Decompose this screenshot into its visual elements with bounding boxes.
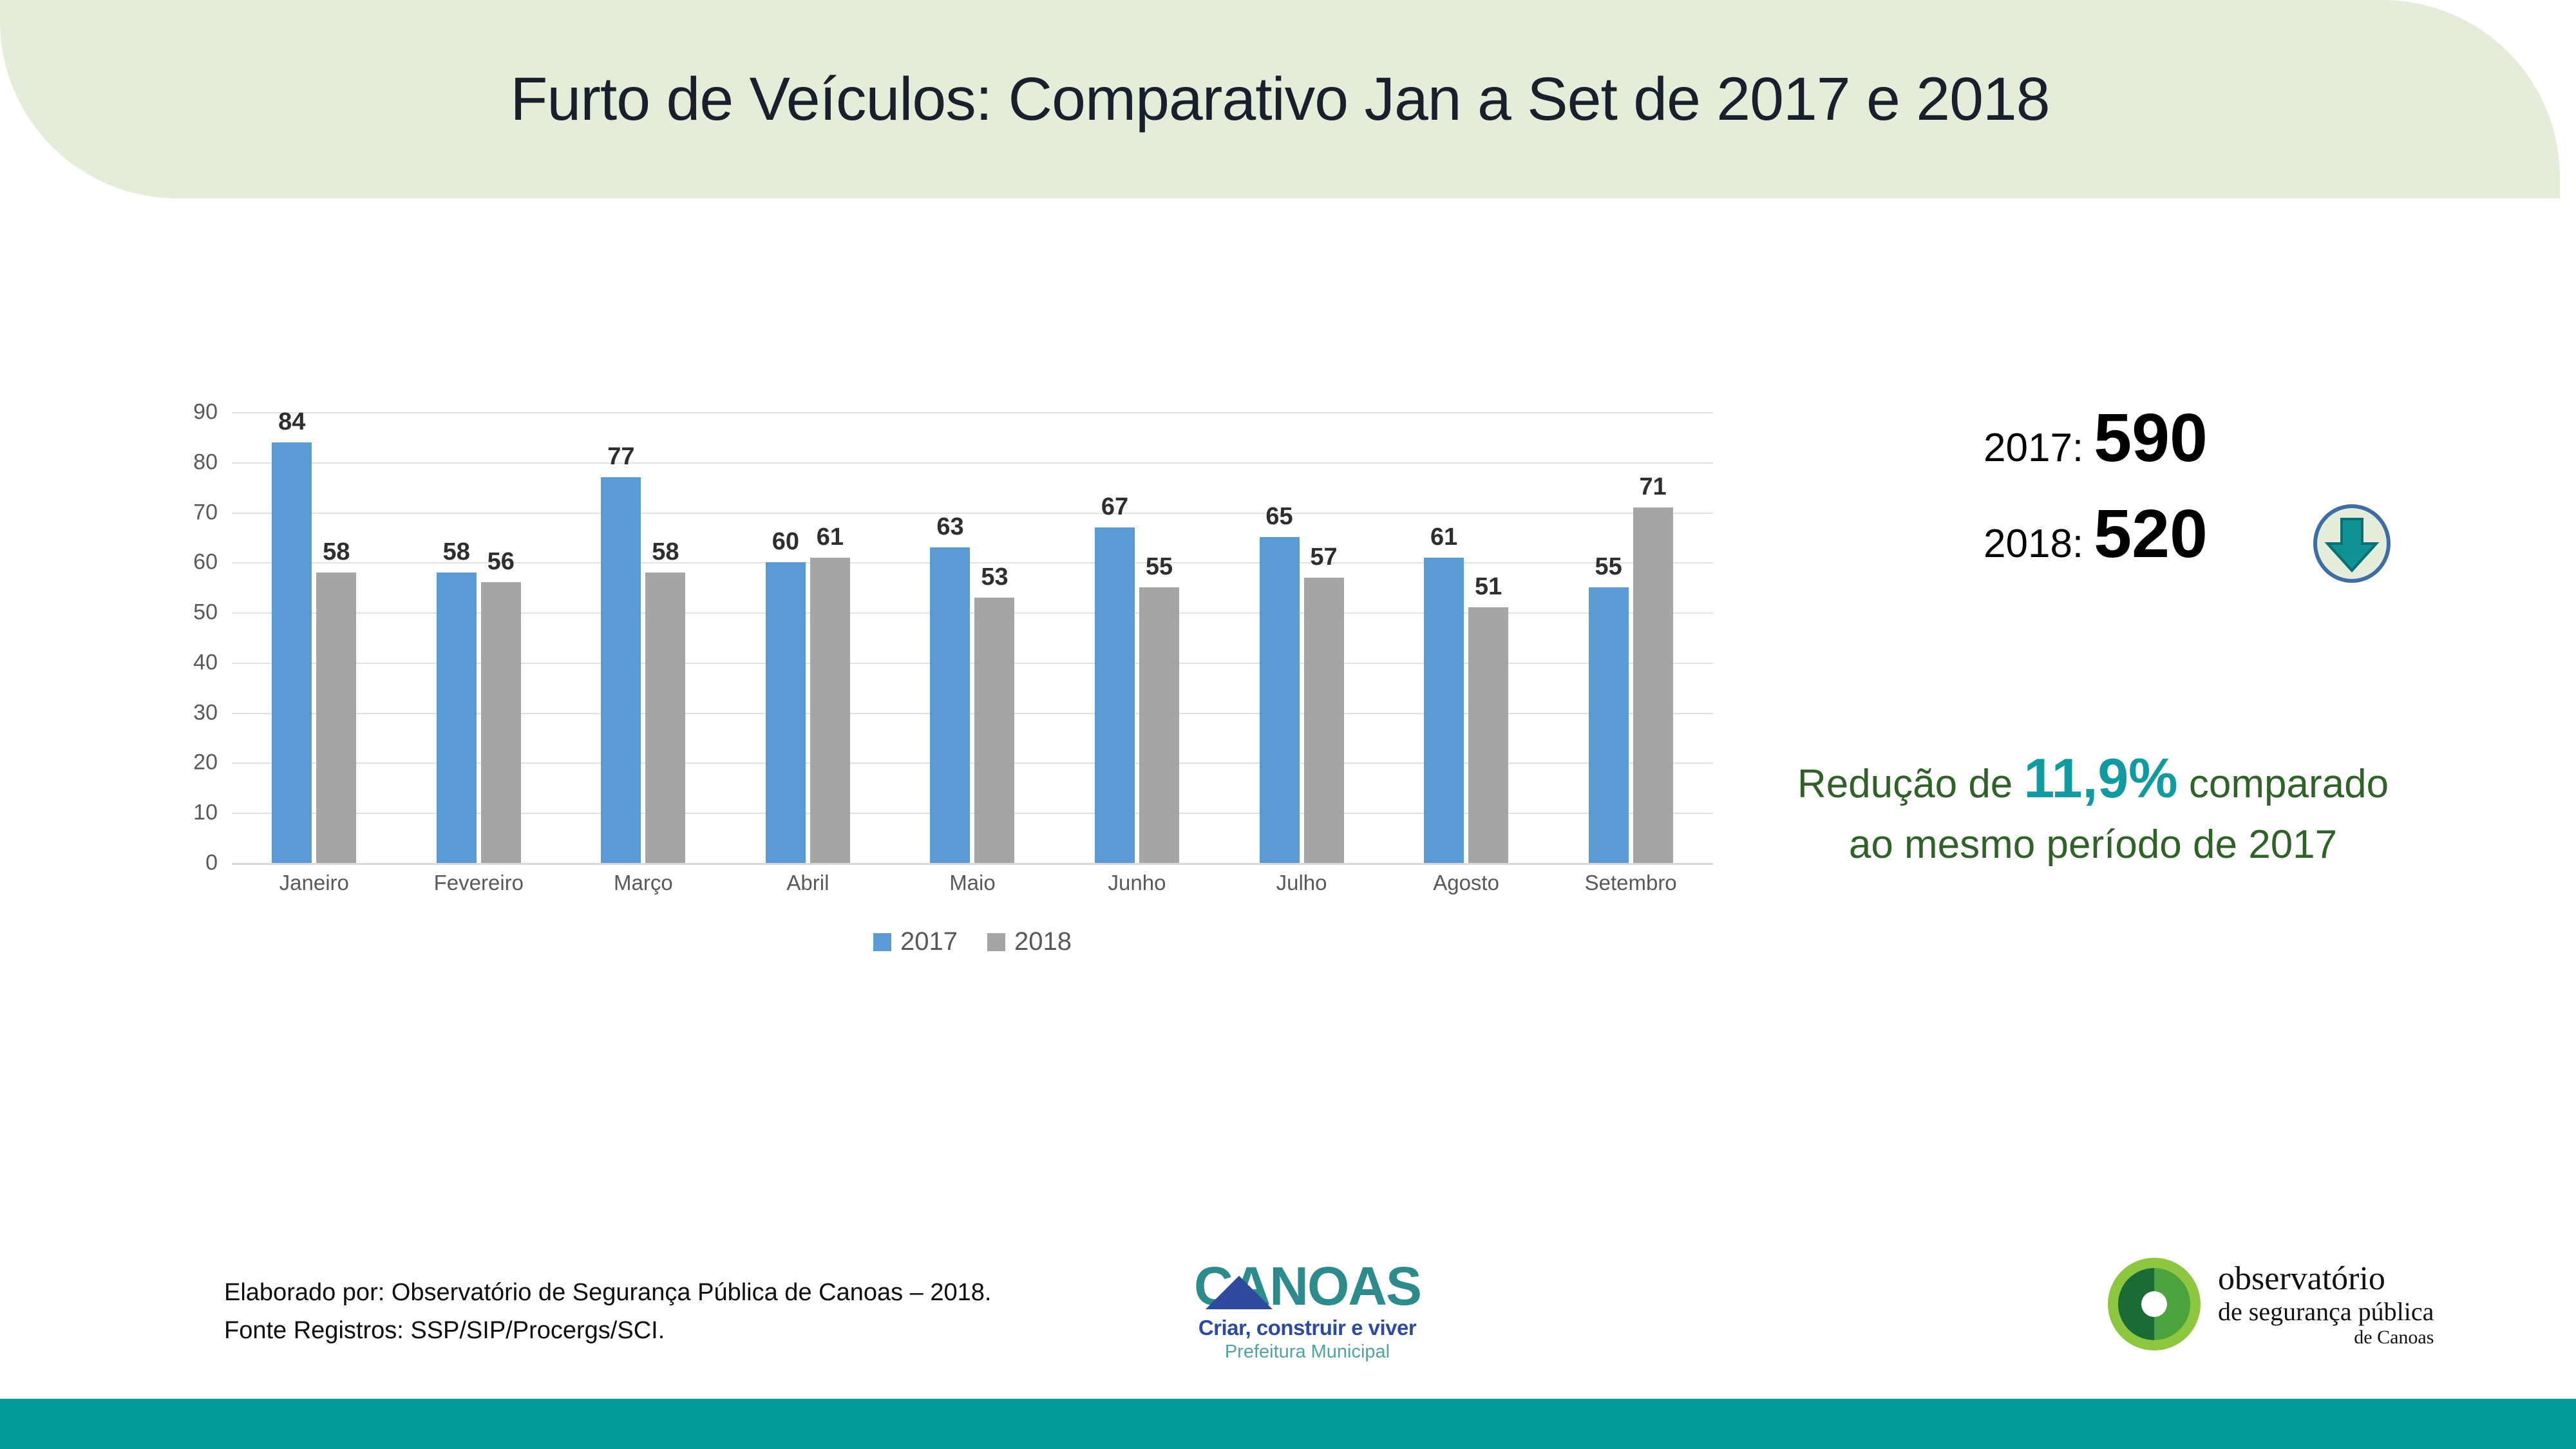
bar-2018-março: 58 (645, 573, 685, 863)
bar-2018-setembro: 71 (1633, 507, 1673, 863)
bar-group: 6151 (1399, 412, 1534, 863)
total-row-2018: 2018: 520 (1984, 495, 2544, 573)
bar-value-label: 57 (1310, 544, 1337, 571)
x-axis-tick: Setembro (1563, 871, 1698, 895)
x-axis-tick: Agosto (1399, 871, 1534, 895)
bar-2017-fevereiro: 58 (437, 573, 477, 863)
reduction-line-2: ao mesmo período de 2017 (1674, 817, 2512, 873)
chart-plot-area: 845858567758606163536755655761515571 (232, 412, 1713, 863)
observatorio-line-1: observatório (2218, 1260, 2434, 1298)
slide-canvas: Furto de Veículos: Comparativo Jan a Set… (0, 0, 2576, 1449)
chart-legend: 20172018 (232, 927, 1713, 956)
y-axis-tick: 50 (193, 600, 218, 625)
x-axis-tick: Junho (1070, 871, 1205, 895)
y-axis-tick: 60 (193, 550, 218, 575)
bar-2017-maio: 63 (930, 547, 970, 863)
reduction-line-1: Redução de 11,9% comparado (1674, 741, 2512, 817)
x-axis-tick: Julho (1234, 871, 1369, 895)
bar-group: 5856 (411, 412, 546, 863)
y-axis-tick: 30 (193, 700, 218, 725)
total-value-2018: 520 (2094, 495, 2208, 573)
bar-value-label: 55 (1595, 553, 1622, 581)
canoas-tagline: Criar, construir e viver (1172, 1316, 1443, 1340)
bar-2018-abril: 61 (810, 558, 850, 863)
arrow-down-icon (2312, 504, 2392, 583)
legend-item-2017[interactable]: 2017 (873, 927, 958, 956)
reduction-suffix: comparado (2178, 762, 2389, 806)
bar-value-label: 55 (1146, 553, 1173, 581)
bar-value-label: 58 (323, 538, 350, 566)
y-axis-tick: 70 (193, 500, 218, 525)
summary-totals: 2017: 590 2018: 520 (1900, 399, 2544, 573)
bar-2017-janeiro: 84 (272, 442, 312, 863)
bar-2018-janeiro: 58 (316, 573, 356, 863)
legend-swatch (987, 933, 1005, 951)
y-axis-tick: 10 (193, 800, 218, 826)
y-axis-tick: 20 (193, 750, 218, 775)
bar-value-label: 61 (1430, 524, 1457, 551)
canoas-wordmark: CANOAS (1172, 1259, 1443, 1313)
reduction-percent: 11,9% (2024, 748, 2178, 810)
bar-group: 8458 (247, 412, 382, 863)
bar-2018-julho: 57 (1304, 578, 1344, 863)
x-axis-tick: Janeiro (247, 871, 382, 895)
bar-value-label: 71 (1640, 473, 1667, 501)
bar-value-label: 53 (981, 563, 1008, 591)
bar-2018-junho: 55 (1139, 587, 1179, 863)
bar-group: 7758 (576, 412, 711, 863)
bar-group: 6755 (1070, 412, 1205, 863)
total-label-2017: 2017: (1984, 425, 2083, 471)
x-axis-tick: Fevereiro (411, 871, 546, 895)
observatorio-line-2: de segurança pública (2218, 1298, 2434, 1327)
x-axis-tick: Abril (740, 871, 875, 895)
bar-value-label: 65 (1265, 503, 1293, 531)
legend-label: 2018 (1014, 927, 1072, 956)
observatorio-logo: observatório de segurança pública de Can… (2106, 1256, 2434, 1352)
bar-group: 6353 (905, 412, 1040, 863)
bar-value-label: 67 (1101, 493, 1128, 521)
chart-x-axis: JaneiroFevereiroMarçoAbrilMaioJunhoJulho… (232, 871, 1713, 895)
canoas-chevron-icon (1206, 1276, 1273, 1309)
bar-chart: 0102030405060708090 84585856775860616353… (167, 412, 1726, 972)
x-axis-tick: Março (576, 871, 711, 895)
bar-2017-julho: 65 (1260, 537, 1300, 863)
bar-2017-agosto: 61 (1424, 558, 1464, 863)
chart-bars: 845858567758606163536755655761515571 (232, 412, 1713, 863)
observatorio-mark-icon (2106, 1256, 2202, 1352)
observatorio-line-3: de Canoas (2218, 1327, 2434, 1349)
y-axis-tick: 40 (193, 650, 218, 675)
legend-swatch (873, 933, 891, 951)
credits-line-2: Fonte Registros: SSP/SIP/Procergs/SCI. (224, 1312, 991, 1350)
bar-value-label: 51 (1475, 573, 1502, 601)
canoas-logo: CANOAS Criar, construir e viver Prefeitu… (1172, 1259, 1443, 1363)
bar-value-label: 77 (607, 443, 634, 471)
reduction-prefix: Redução de (1797, 762, 2024, 806)
page-title: Furto de Veículos: Comparativo Jan a Set… (0, 0, 2560, 198)
bar-value-label: 61 (817, 524, 844, 551)
bar-group: 6557 (1234, 412, 1369, 863)
bar-2018-fevereiro: 56 (481, 582, 521, 863)
credits-line-1: Elaborado por: Observatório de Segurança… (224, 1274, 991, 1312)
bar-2018-maio: 53 (974, 598, 1014, 863)
x-axis-tick: Maio (905, 871, 1040, 895)
total-value-2017: 590 (2094, 399, 2208, 477)
footer-credits: Elaborado por: Observatório de Segurança… (224, 1274, 991, 1350)
gridline (232, 863, 1713, 865)
legend-label: 2017 (900, 927, 958, 956)
bar-value-label: 84 (278, 408, 305, 436)
bar-value-label: 56 (488, 548, 515, 576)
y-axis-tick: 90 (193, 400, 218, 425)
total-label-2018: 2018: (1984, 521, 2083, 567)
bar-2018-agosto: 51 (1468, 607, 1508, 863)
bar-value-label: 58 (652, 538, 679, 566)
bar-value-label: 63 (936, 513, 963, 541)
canoas-subline: Prefeitura Municipal (1172, 1341, 1443, 1363)
bar-2017-março: 77 (601, 477, 641, 863)
chart-y-axis: 0102030405060708090 (167, 412, 225, 863)
bottom-accent-bar (0, 1399, 2576, 1449)
y-axis-tick: 80 (193, 450, 218, 475)
bar-2017-junho: 67 (1095, 527, 1135, 863)
y-axis-tick: 0 (205, 851, 218, 876)
observatorio-wordmark: observatório de segurança pública de Can… (2218, 1260, 2434, 1349)
bar-2017-setembro: 55 (1589, 587, 1629, 863)
bar-value-label: 58 (443, 538, 470, 566)
legend-item-2018[interactable]: 2018 (987, 927, 1072, 956)
bar-group: 6061 (740, 412, 875, 863)
reduction-statement: Redução de 11,9% comparado ao mesmo perí… (1674, 741, 2512, 872)
bar-2017-abril: 60 (766, 562, 806, 863)
bar-value-label: 60 (772, 528, 799, 556)
total-row-2017: 2017: 590 (1984, 399, 2544, 477)
